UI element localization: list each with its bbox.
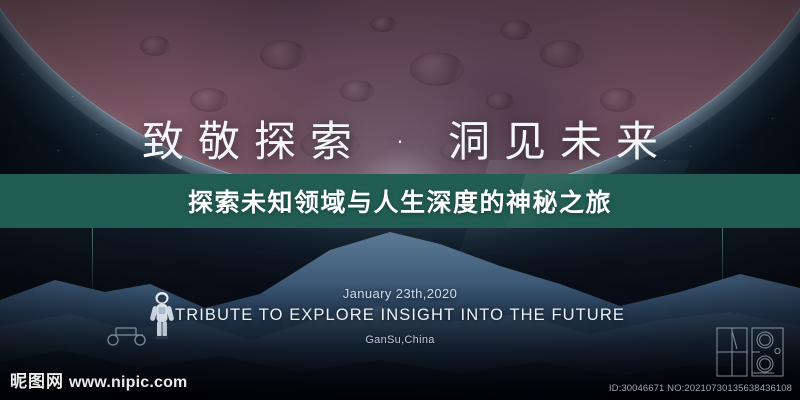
watermark-site-name: 昵图网 bbox=[10, 367, 64, 392]
caption-date: January 23th,2020 bbox=[0, 286, 800, 301]
poster-image: 致敬探索 · 洞见未来 探索未知领域与人生深度的神秘之旅 January 23t… bbox=[0, 0, 800, 400]
watermark: 昵图网 www.nipic.com bbox=[10, 367, 187, 392]
page-title: 致敬探索 · 洞见未来 bbox=[0, 108, 800, 169]
tech-panel-graphic bbox=[716, 327, 784, 377]
subtitle-banner: 探索未知领域与人生深度的神秘之旅 bbox=[0, 174, 800, 228]
banner-text: 探索未知领域与人生深度的神秘之旅 bbox=[188, 183, 612, 219]
caption-location: GanSu,China bbox=[0, 334, 800, 346]
asset-id-label: ID:30046671 NO:20210730135638436108 bbox=[609, 383, 792, 394]
caption-tagline: TRIBUTE TO EXPLORE INSIGHT INTO THE FUTU… bbox=[0, 306, 800, 325]
caption-block: January 23th,2020 TRIBUTE TO EXPLORE INS… bbox=[0, 286, 800, 346]
watermark-url: www.nipic.com bbox=[69, 374, 187, 392]
